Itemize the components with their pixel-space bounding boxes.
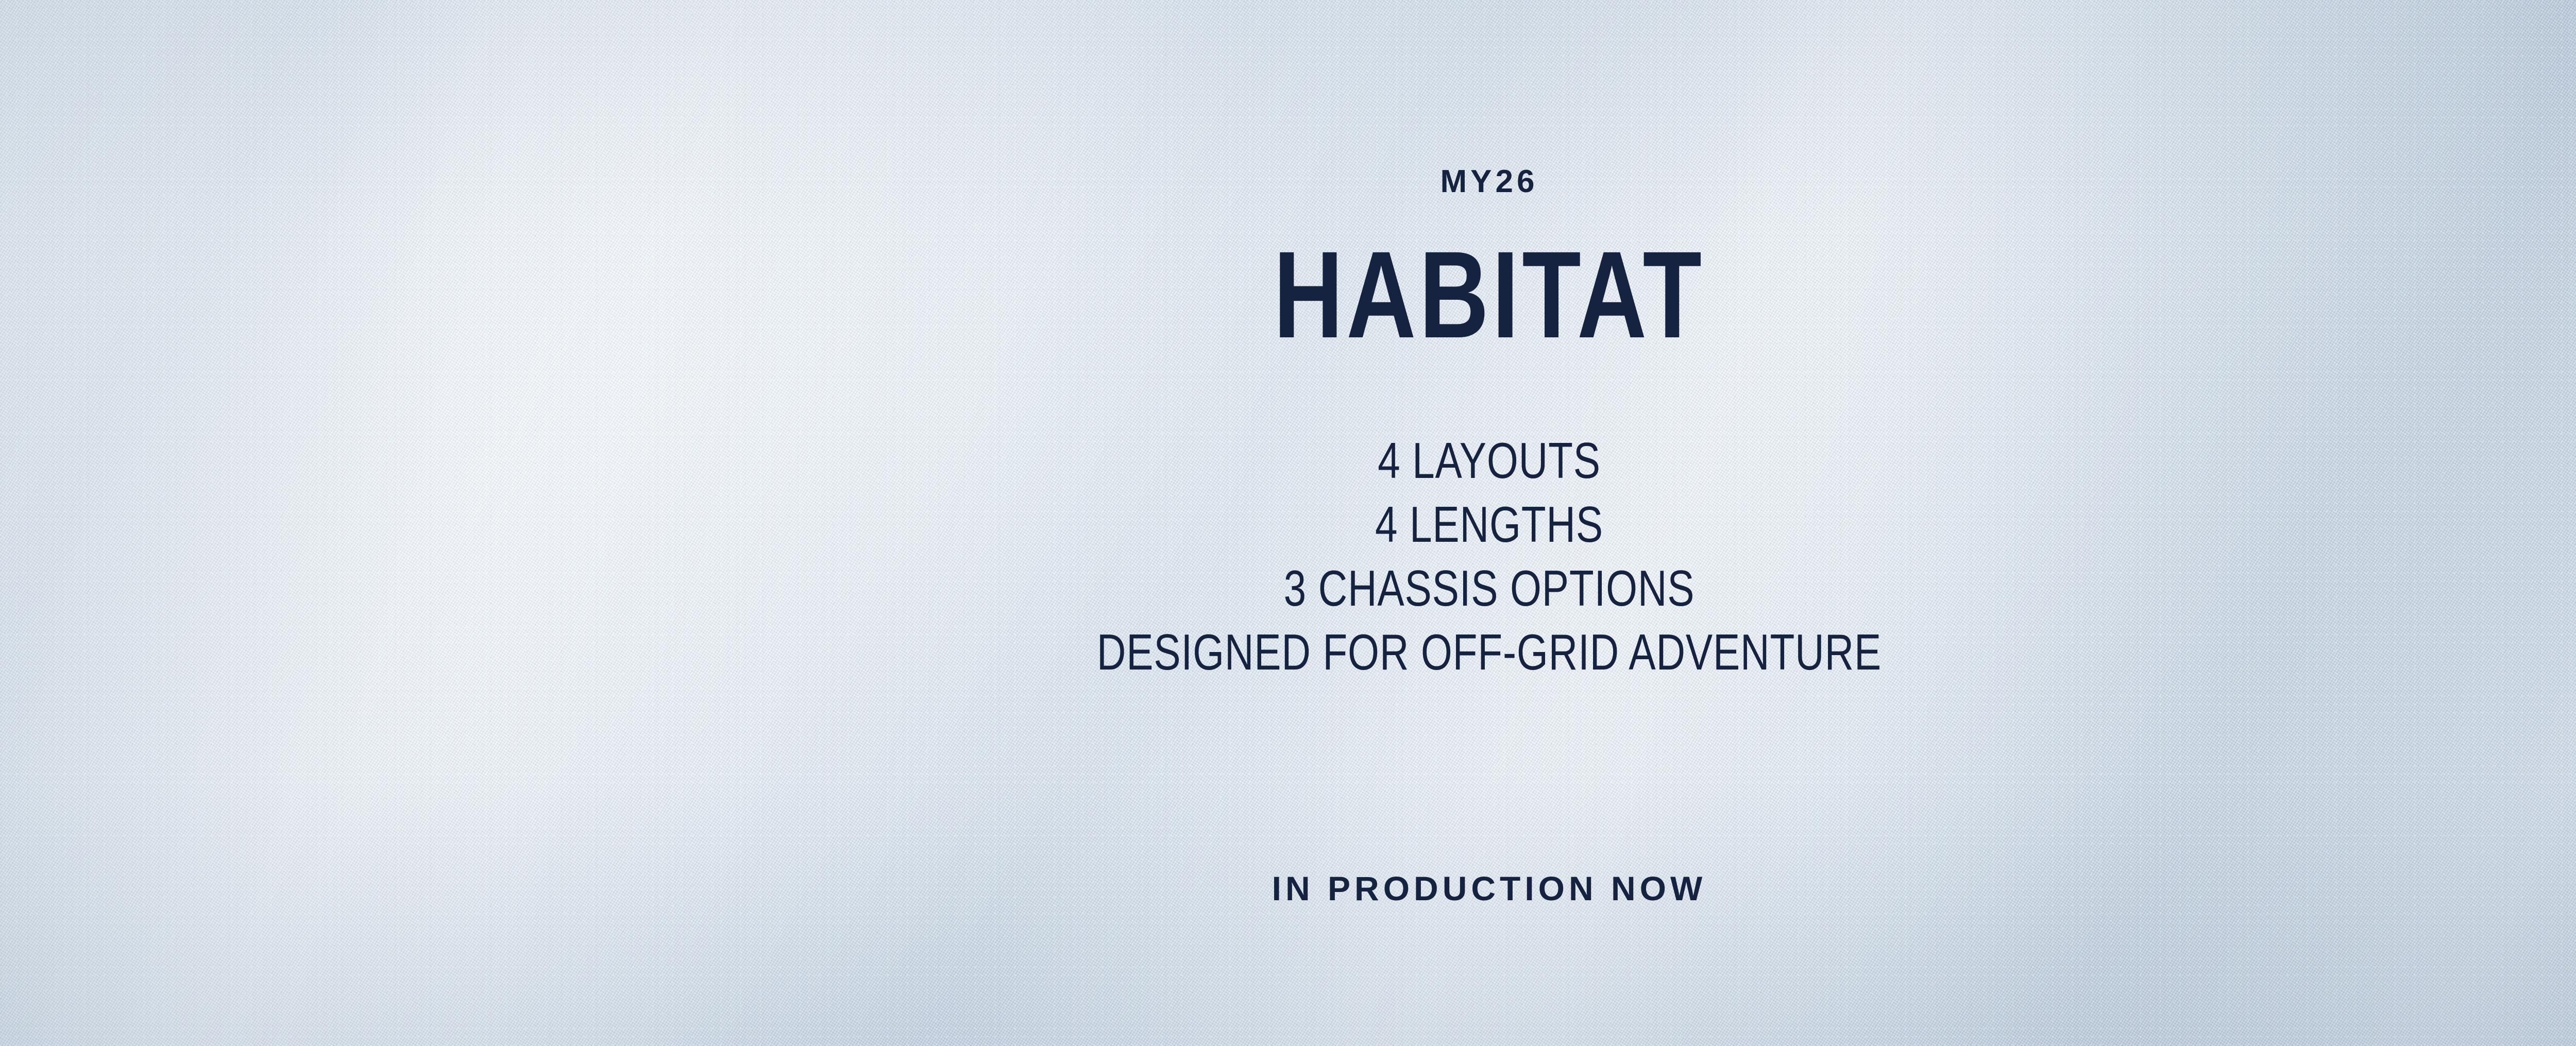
spec-line-lengths: 4 LENGTHS [298, 492, 2576, 556]
page-title: HABITAT [328, 233, 2576, 356]
model-year-eyebrow: MY26 [0, 166, 2576, 198]
promo-banner: MY26 HABITAT 4 LAYOUTS 4 LENGTHS 3 CHASS… [0, 0, 2576, 1046]
spec-line-tagline: DESIGNED FOR OFF-GRID ADVENTURE [298, 620, 2576, 684]
spec-list: 4 LAYOUTS 4 LENGTHS 3 CHASSIS OPTIONS DE… [0, 428, 2576, 684]
spec-line-chassis: 3 CHASSIS OPTIONS [298, 556, 2576, 620]
spec-line-layouts: 4 LAYOUTS [298, 428, 2576, 492]
status-badge: IN PRODUCTION NOW [0, 871, 2576, 905]
banner-content: MY26 HABITAT 4 LAYOUTS 4 LENGTHS 3 CHASS… [0, 0, 2576, 1046]
